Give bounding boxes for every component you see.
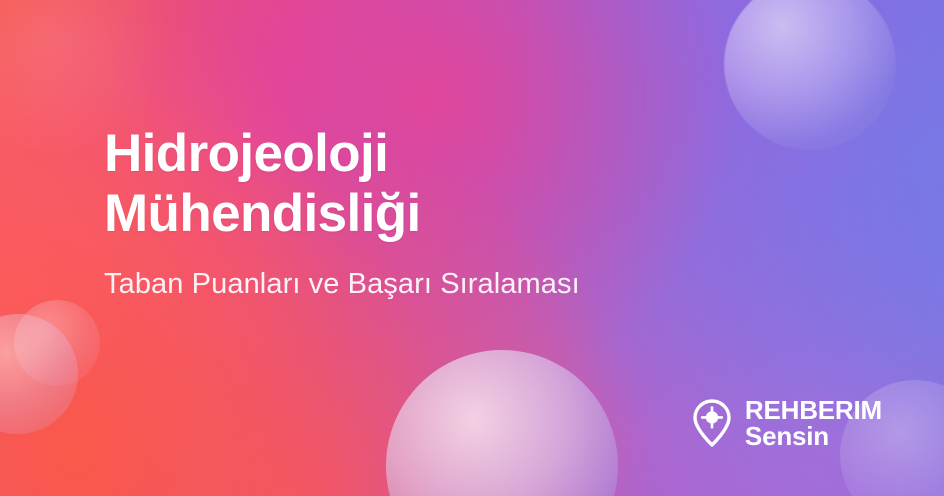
brand-logo-line-2: Sensin — [745, 423, 882, 450]
brand-logo: REHBERIM Sensin — [691, 397, 882, 450]
banner-text-block: Hidrojeoloji Mühendisliği Taban Puanları… — [104, 124, 824, 301]
promo-banner: Hidrojeoloji Mühendisliği Taban Puanları… — [0, 0, 944, 496]
orb-bottom-center-icon — [386, 350, 618, 496]
page-title: Hidrojeoloji Mühendisliği — [104, 124, 824, 244]
brand-logo-text: REHBERIM Sensin — [745, 397, 882, 450]
page-title-line-2: Mühendisliği — [104, 184, 421, 243]
location-pin-icon — [691, 399, 733, 447]
page-title-line-1: Hidrojeoloji — [104, 124, 388, 183]
brand-logo-line-1: REHBERIM — [745, 395, 882, 425]
page-subtitle: Taban Puanları ve Başarı Sıralaması — [104, 268, 824, 301]
